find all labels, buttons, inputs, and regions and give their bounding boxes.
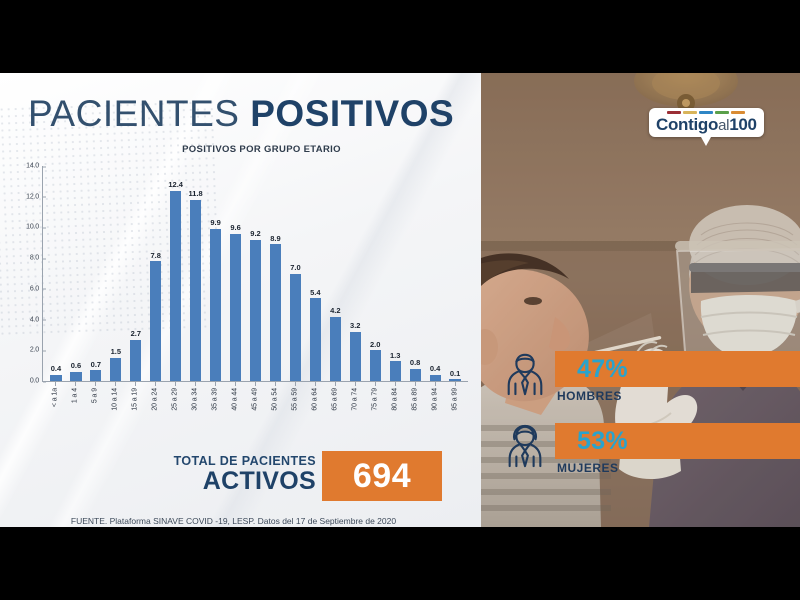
x-axis-tick	[145, 382, 165, 386]
logo-text-part1: Contigo	[656, 115, 718, 134]
bar-slot: 1.5	[106, 166, 126, 381]
bar-value-label: 0.8	[410, 358, 420, 367]
bar-slot: 9.2	[246, 166, 266, 381]
x-axis-labels: < a 1a1 a 45 a 910 a 1415 a 1920 a 2425 …	[42, 388, 468, 444]
chart-bar[interactable]: 4.2	[330, 317, 341, 382]
bar-value-label: 9.9	[210, 218, 220, 227]
x-axis-label: 70 a 74	[352, 388, 359, 411]
bar-slot: 9.9	[206, 166, 226, 381]
stat-percent-value: 53%	[577, 427, 628, 456]
bar-value-label: 3.2	[350, 321, 360, 330]
bar-value-label: 7.0	[290, 263, 300, 272]
x-axis-tick	[385, 382, 405, 386]
bar-value-label: 2.7	[131, 329, 141, 338]
x-axis-label: 90 a 94	[432, 388, 439, 411]
chart-plot-area: 0.40.60.71.52.77.812.411.89.99.69.28.97.…	[42, 166, 468, 382]
bar-slot: 7.0	[285, 166, 305, 381]
bar-value-label: 12.4	[168, 180, 183, 189]
total-label-group: TOTAL DE PACIENTES ACTIVOS	[174, 455, 316, 494]
x-axis-label-slot: 5 a 9	[85, 388, 105, 444]
video-content-band: PACIENTES POSITIVOS POSITIVOS POR GRUPO …	[0, 73, 800, 527]
logo-bubble: Contigoal100	[649, 108, 764, 137]
total-value: 694	[353, 457, 411, 496]
x-axis-label-slot: 1 a 4	[65, 388, 85, 444]
x-axis-label-slot: 75 a 79	[365, 388, 385, 444]
chart-bar[interactable]: 2.7	[130, 340, 141, 381]
x-axis-ticks	[42, 382, 468, 386]
contigo-al-100-logo: Contigoal100	[649, 108, 764, 137]
total-value-badge: 694	[322, 451, 442, 501]
stat-caption: MUJERES	[557, 461, 619, 475]
x-axis-tick	[105, 382, 125, 386]
y-axis-tick: 2.0	[30, 347, 43, 354]
x-axis-label-slot: 85 a 89	[405, 388, 425, 444]
x-axis-tick	[325, 382, 345, 386]
y-axis-tick: 6.0	[30, 285, 43, 292]
bar-slot: 4.2	[325, 166, 345, 381]
x-axis-label-slot: 80 a 84	[385, 388, 405, 444]
x-axis-label-slot: 40 a 44	[225, 388, 245, 444]
x-axis-label: 75 a 79	[372, 388, 379, 411]
stat-caption: HOMBRES	[557, 389, 622, 403]
bar-value-label: 0.1	[450, 369, 460, 378]
x-axis-label: 50 a 54	[272, 388, 279, 411]
bar-slot: 12.4	[166, 166, 186, 381]
bar-value-label: 0.4	[51, 364, 61, 373]
chart-bar[interactable]: 1.3	[390, 361, 401, 381]
bar-value-label: 0.4	[430, 364, 440, 373]
bar-value-label: 0.7	[91, 360, 101, 369]
bar-slot: 1.3	[385, 166, 405, 381]
chart-bar[interactable]: 0.4	[430, 375, 441, 381]
x-axis-label-slot: 90 a 94	[425, 388, 445, 444]
logo-text-part2: al	[718, 117, 729, 134]
page-title: PACIENTES POSITIVOS	[28, 93, 454, 135]
bar-value-label: 9.6	[230, 223, 240, 232]
bar-slot: 11.8	[186, 166, 206, 381]
x-axis-tick	[185, 382, 205, 386]
letterbox-top-bar	[0, 0, 800, 73]
x-axis-label: 35 a 39	[212, 388, 219, 411]
bar-value-label: 2.0	[370, 340, 380, 349]
x-axis-tick	[365, 382, 385, 386]
x-axis-label: < a 1a	[52, 388, 59, 407]
logo-color-bar	[699, 111, 713, 114]
logo-color-bar	[715, 111, 729, 114]
x-axis-label-slot: 50 a 54	[265, 388, 285, 444]
x-axis-label: 20 a 24	[152, 388, 159, 411]
stat-percent-value: 47%	[577, 355, 628, 384]
chart-bar[interactable]: 7.0	[290, 274, 301, 382]
bar-slot: 9.6	[226, 166, 246, 381]
logo-text-part3: 100	[729, 115, 756, 134]
x-axis-label-slot: 20 a 24	[145, 388, 165, 444]
x-axis-tick	[265, 382, 285, 386]
bar-slot: 2.0	[365, 166, 385, 381]
logo-text: Contigoal100	[656, 116, 757, 133]
bar-slot: 8.9	[265, 166, 285, 381]
x-axis-tick	[125, 382, 145, 386]
chart-bar[interactable]: 9.2	[250, 240, 261, 381]
bar-slot: 5.4	[305, 166, 325, 381]
x-axis-tick	[445, 382, 465, 386]
x-axis-label-slot: 30 a 34	[185, 388, 205, 444]
chart-bar[interactable]: 9.9	[210, 229, 221, 381]
bar-value-label: 1.3	[390, 351, 400, 360]
bar-slot: 0.8	[405, 166, 425, 381]
x-axis-tick	[345, 382, 365, 386]
x-axis-label-slot: 70 a 74	[345, 388, 365, 444]
x-axis-tick	[305, 382, 325, 386]
x-axis-label-slot: 45 a 49	[245, 388, 265, 444]
x-axis-label: 45 a 49	[252, 388, 259, 411]
x-axis-label: 95 a 99	[452, 388, 459, 411]
chart-bar[interactable]: 7.8	[150, 261, 161, 381]
chart-bar[interactable]: 0.6	[70, 372, 81, 381]
covid-test-photo: Contigoal100	[481, 73, 800, 527]
logo-color-bars	[656, 111, 757, 114]
chart-bar[interactable]: 2.0	[370, 350, 381, 381]
chart-bar[interactable]: 0.1	[449, 379, 460, 381]
x-axis-label-slot: 65 a 69	[325, 388, 345, 444]
female-avatar-icon	[502, 423, 548, 469]
x-axis-label-slot: 55 a 59	[285, 388, 305, 444]
y-axis-tick: 14.0	[26, 163, 43, 170]
stat-percent-bar: 53%	[555, 423, 800, 459]
bar-value-label: 7.8	[151, 251, 161, 260]
x-axis-label: 30 a 34	[192, 388, 199, 411]
x-axis-label: 25 a 29	[172, 388, 179, 411]
x-axis-label: 85 a 89	[412, 388, 419, 411]
chart-bar[interactable]: 12.4	[170, 191, 181, 381]
chart-bar[interactable]: 3.2	[350, 332, 361, 381]
x-axis-label: 65 a 69	[332, 388, 339, 411]
stat-percent-bar: 47%	[555, 351, 800, 387]
chart-bar[interactable]: 1.5	[110, 358, 121, 381]
bar-value-label: 5.4	[310, 288, 320, 297]
logo-color-bar	[667, 111, 681, 114]
x-axis-label: 5 a 9	[92, 388, 99, 403]
x-axis-tick	[65, 382, 85, 386]
total-active-patients: TOTAL DE PACIENTES ACTIVOS 694	[0, 449, 481, 511]
letterbox-bottom-bar	[0, 527, 800, 600]
x-axis-label-slot: 10 a 14	[105, 388, 125, 444]
x-axis-label-slot: 95 a 99	[445, 388, 465, 444]
x-axis-label-slot: 60 a 64	[305, 388, 325, 444]
x-axis-label: 80 a 84	[392, 388, 399, 411]
x-axis-label-slot: 15 a 19	[125, 388, 145, 444]
x-axis-tick	[285, 382, 305, 386]
statistics-slide-panel: PACIENTES POSITIVOS POSITIVOS POR GRUPO …	[0, 73, 481, 527]
bar-value-label: 0.6	[71, 361, 81, 370]
y-axis-tick: 12.0	[26, 193, 43, 200]
x-axis-tick	[225, 382, 245, 386]
x-axis-label-slot: 25 a 29	[165, 388, 185, 444]
chart-bar[interactable]: 9.6	[230, 234, 241, 381]
bar-value-label: 8.9	[270, 234, 280, 243]
page-title-bold: POSITIVOS	[250, 93, 454, 134]
logo-color-bar	[683, 111, 697, 114]
total-label-small: TOTAL DE PACIENTES	[174, 455, 316, 468]
x-axis-tick	[45, 382, 65, 386]
bar-slot: 0.6	[66, 166, 86, 381]
source-footnote: FUENTE. Plataforma SINAVE COVID -19, LES…	[0, 516, 481, 526]
x-axis-tick	[85, 382, 105, 386]
chart-bar[interactable]: 0.4	[50, 375, 61, 381]
x-axis-label: 10 a 14	[112, 388, 119, 411]
x-axis-label-slot: 35 a 39	[205, 388, 225, 444]
page-title-thin: PACIENTES	[28, 93, 250, 134]
male-avatar-icon	[502, 351, 548, 397]
bar-slot: 0.1	[445, 166, 465, 381]
chart-bar[interactable]: 8.9	[270, 244, 281, 381]
chart-subtitle: POSITIVOS POR GRUPO ETARIO	[0, 144, 481, 155]
chart-bar[interactable]: 0.7	[90, 370, 101, 381]
x-axis-label: 1 a 4	[72, 388, 79, 403]
bar-slot: 0.4	[425, 166, 445, 381]
bar-slot: 3.2	[345, 166, 365, 381]
x-axis-tick	[405, 382, 425, 386]
bar-slot: 0.7	[86, 166, 106, 381]
chart-bars: 0.40.60.71.52.77.812.411.89.99.69.28.97.…	[43, 166, 468, 381]
x-axis-tick	[165, 382, 185, 386]
x-axis-label: 60 a 64	[312, 388, 319, 411]
chart-bar[interactable]: 11.8	[190, 200, 201, 381]
chart-bar[interactable]: 5.4	[310, 298, 321, 381]
chart-bar[interactable]: 0.8	[410, 369, 421, 381]
bar-slot: 7.8	[146, 166, 166, 381]
bar-slot: 0.4	[46, 166, 66, 381]
total-label-big: ACTIVOS	[174, 469, 316, 495]
x-axis-tick	[205, 382, 225, 386]
x-axis-tick	[245, 382, 265, 386]
x-axis-label: 15 a 19	[132, 388, 139, 411]
bar-slot: 2.7	[126, 166, 146, 381]
x-axis-label: 55 a 59	[292, 388, 299, 411]
logo-color-bar	[731, 111, 745, 114]
bar-value-label: 4.2	[330, 306, 340, 315]
age-group-bar-chart: 0.40.60.71.52.77.812.411.89.99.69.28.97.…	[10, 161, 472, 461]
x-axis-tick	[425, 382, 445, 386]
bar-value-label: 9.2	[250, 229, 260, 238]
y-axis-tick: 8.0	[30, 255, 43, 262]
y-axis-tick: 10.0	[26, 224, 43, 231]
y-axis-tick: 4.0	[30, 316, 43, 323]
bar-value-label: 1.5	[111, 347, 121, 356]
x-axis-label-slot: < a 1a	[45, 388, 65, 444]
x-axis-label: 40 a 44	[232, 388, 239, 411]
screenshot-stage: PACIENTES POSITIVOS POSITIVOS POR GRUPO …	[0, 0, 800, 600]
bar-value-label: 11.8	[189, 189, 203, 198]
